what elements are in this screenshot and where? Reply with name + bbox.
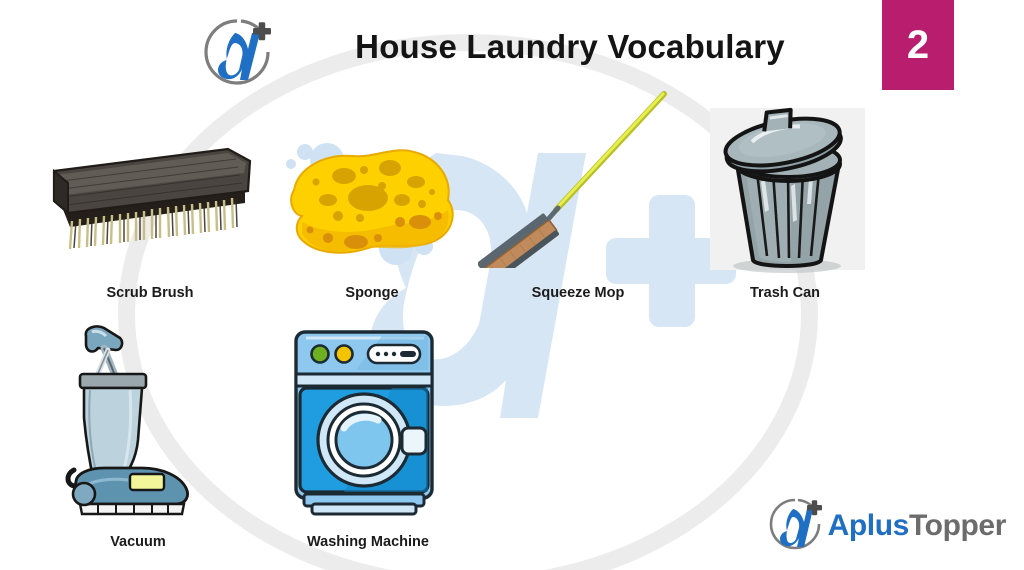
knob-green xyxy=(312,346,329,363)
item-squeeze-mop: Squeeze Mop xyxy=(478,88,678,268)
item-scrub-brush: Scrub Brush xyxy=(40,145,260,265)
page-number-value: 2 xyxy=(907,25,929,65)
footer-brand-secondary: Topper xyxy=(909,509,1006,542)
washing-machine-icon xyxy=(282,328,454,518)
item-label-vacuum: Vacuum xyxy=(58,534,218,550)
knob-yellow xyxy=(336,346,353,363)
item-sponge: Sponge xyxy=(272,138,472,268)
sponge-icon xyxy=(272,138,472,268)
item-vacuum: Vacuum xyxy=(58,322,218,518)
squeeze-mop-icon xyxy=(478,88,678,268)
footer-brand-primary: Aplus xyxy=(828,509,909,542)
item-trash-can: Trash Can xyxy=(695,100,875,275)
footer-brand-wordmark: AplusTopper xyxy=(828,509,1006,543)
item-label-sponge: Sponge xyxy=(272,285,472,301)
item-label-scrub-brush: Scrub Brush xyxy=(40,285,260,301)
item-label-washing-machine: Washing Machine xyxy=(268,534,468,550)
item-washing-machine: Washing Machine xyxy=(282,328,454,518)
vacuum-icon xyxy=(58,322,218,518)
aplus-logo-icon xyxy=(197,16,277,94)
scrub-brush-icon xyxy=(40,145,260,265)
footer-brand-logo: AplusTopper xyxy=(764,496,1006,556)
page-title: House Laundry Vocabulary xyxy=(300,28,840,66)
item-label-trash-can: Trash Can xyxy=(695,285,875,301)
item-label-squeeze-mop: Squeeze Mop xyxy=(478,285,678,301)
slide: House Laundry Vocabulary 2 xyxy=(0,0,1024,570)
trash-can-icon xyxy=(695,100,875,275)
aplus-logo-icon xyxy=(764,496,826,556)
page-number-badge: 2 xyxy=(882,0,954,90)
slide-header: House Laundry Vocabulary 2 xyxy=(0,0,1024,100)
